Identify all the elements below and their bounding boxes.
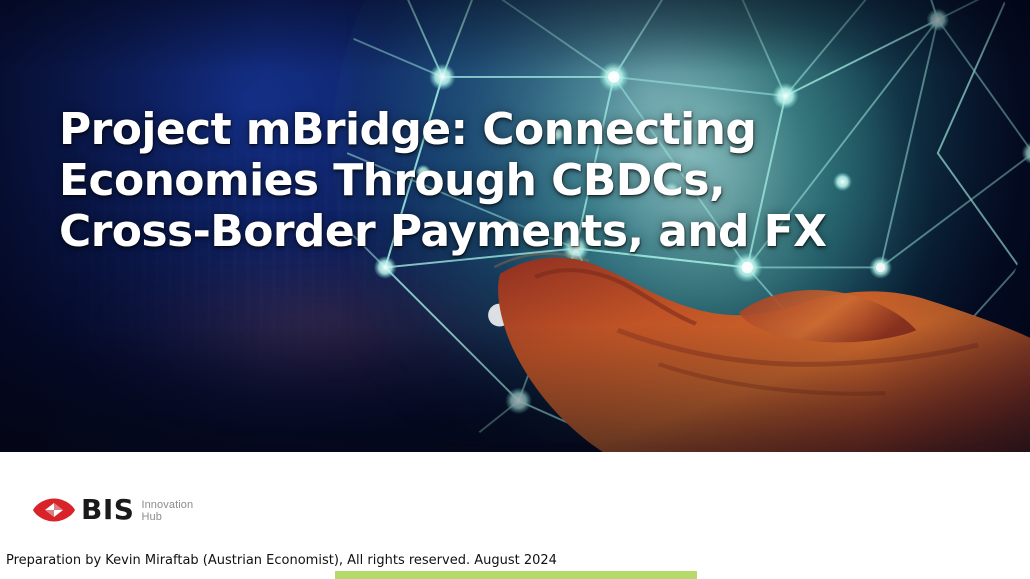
title-line-1: Project mBridge: Connecting [59, 104, 879, 155]
credit-line: Preparation by Kevin Miraftab (Austrian … [6, 553, 557, 569]
logo-subtitle-line-1: Innovation [141, 499, 193, 511]
slide-root: Project mBridge: Connecting Economies Th… [0, 0, 1030, 579]
logo-subtitle-line-2: Hub [141, 511, 193, 523]
title-line-2: Economies Through CBDCs, [59, 155, 879, 206]
green-accent-bar [335, 571, 697, 579]
logo-subtitle: Innovation Hub [141, 499, 193, 523]
bis-diamond-logo-mark [32, 497, 76, 523]
logo-wordmark: BIS [81, 496, 134, 524]
bis-innovation-hub-logo: BIS Innovation Hub [32, 496, 193, 524]
footer-area: BIS Innovation Hub Preparation by Kevin … [0, 452, 1030, 579]
title-line-3: Cross-Border Payments, and FX [59, 206, 879, 257]
page-title: Project mBridge: Connecting Economies Th… [59, 104, 879, 257]
hero-image: Project mBridge: Connecting Economies Th… [0, 0, 1030, 452]
